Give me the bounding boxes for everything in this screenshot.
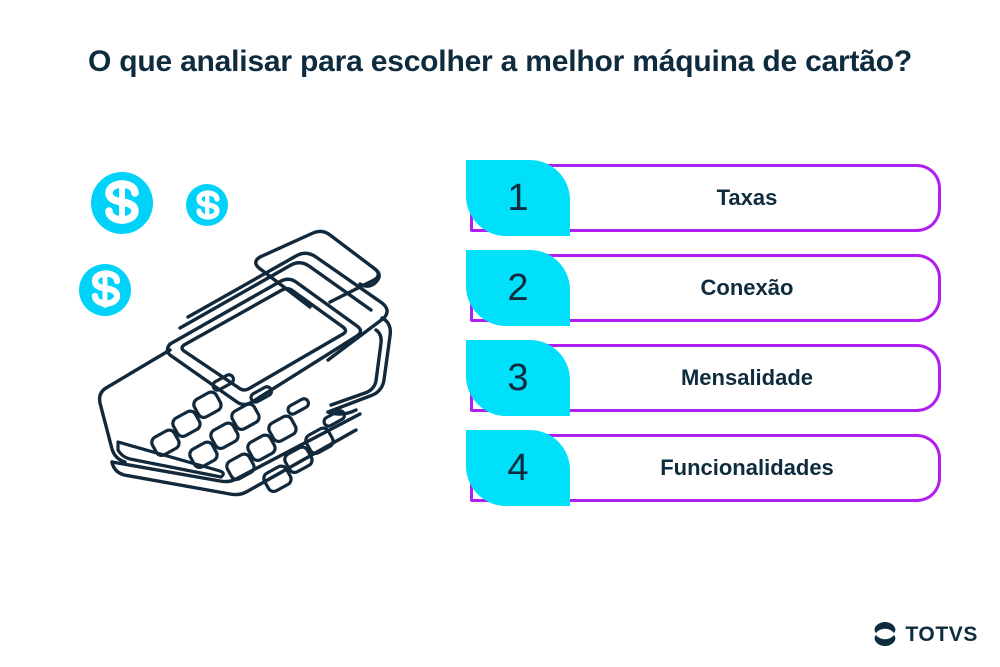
coin-medium bbox=[79, 264, 131, 316]
page-title: O que analisar para escolher a melhor má… bbox=[70, 42, 930, 83]
brand-logo: TOTVS bbox=[872, 621, 978, 647]
list-item-label: Funcionalidades bbox=[570, 434, 938, 502]
list-item[interactable]: 2 Conexão bbox=[466, 250, 941, 326]
list-item-number: 1 bbox=[466, 160, 570, 236]
pos-terminal bbox=[100, 231, 391, 494]
list-item[interactable]: 1 Taxas bbox=[466, 160, 941, 236]
list-item-number: 2 bbox=[466, 250, 570, 326]
list-item-number: 3 bbox=[466, 340, 570, 416]
totvs-logo-mark bbox=[872, 621, 898, 647]
list-item-label: Taxas bbox=[570, 164, 938, 232]
coin-large bbox=[91, 172, 153, 234]
list-item-number: 4 bbox=[466, 430, 570, 506]
infographic-canvas: O que analisar para escolher a melhor má… bbox=[0, 0, 1000, 667]
card-payment-terminal-illustration bbox=[60, 150, 440, 500]
list-item-label: Conexão bbox=[570, 254, 938, 322]
logo-wordmark: TOTVS bbox=[905, 624, 978, 645]
list-item[interactable]: 4 Funcionalidades bbox=[466, 430, 941, 506]
list-item-label: Mensalidade bbox=[570, 344, 938, 412]
coin-small bbox=[186, 184, 228, 226]
list-item[interactable]: 3 Mensalidade bbox=[466, 340, 941, 416]
criteria-list: 1 Taxas 2 Conexão 3 Mensalidade 4 Funcio… bbox=[466, 160, 941, 506]
